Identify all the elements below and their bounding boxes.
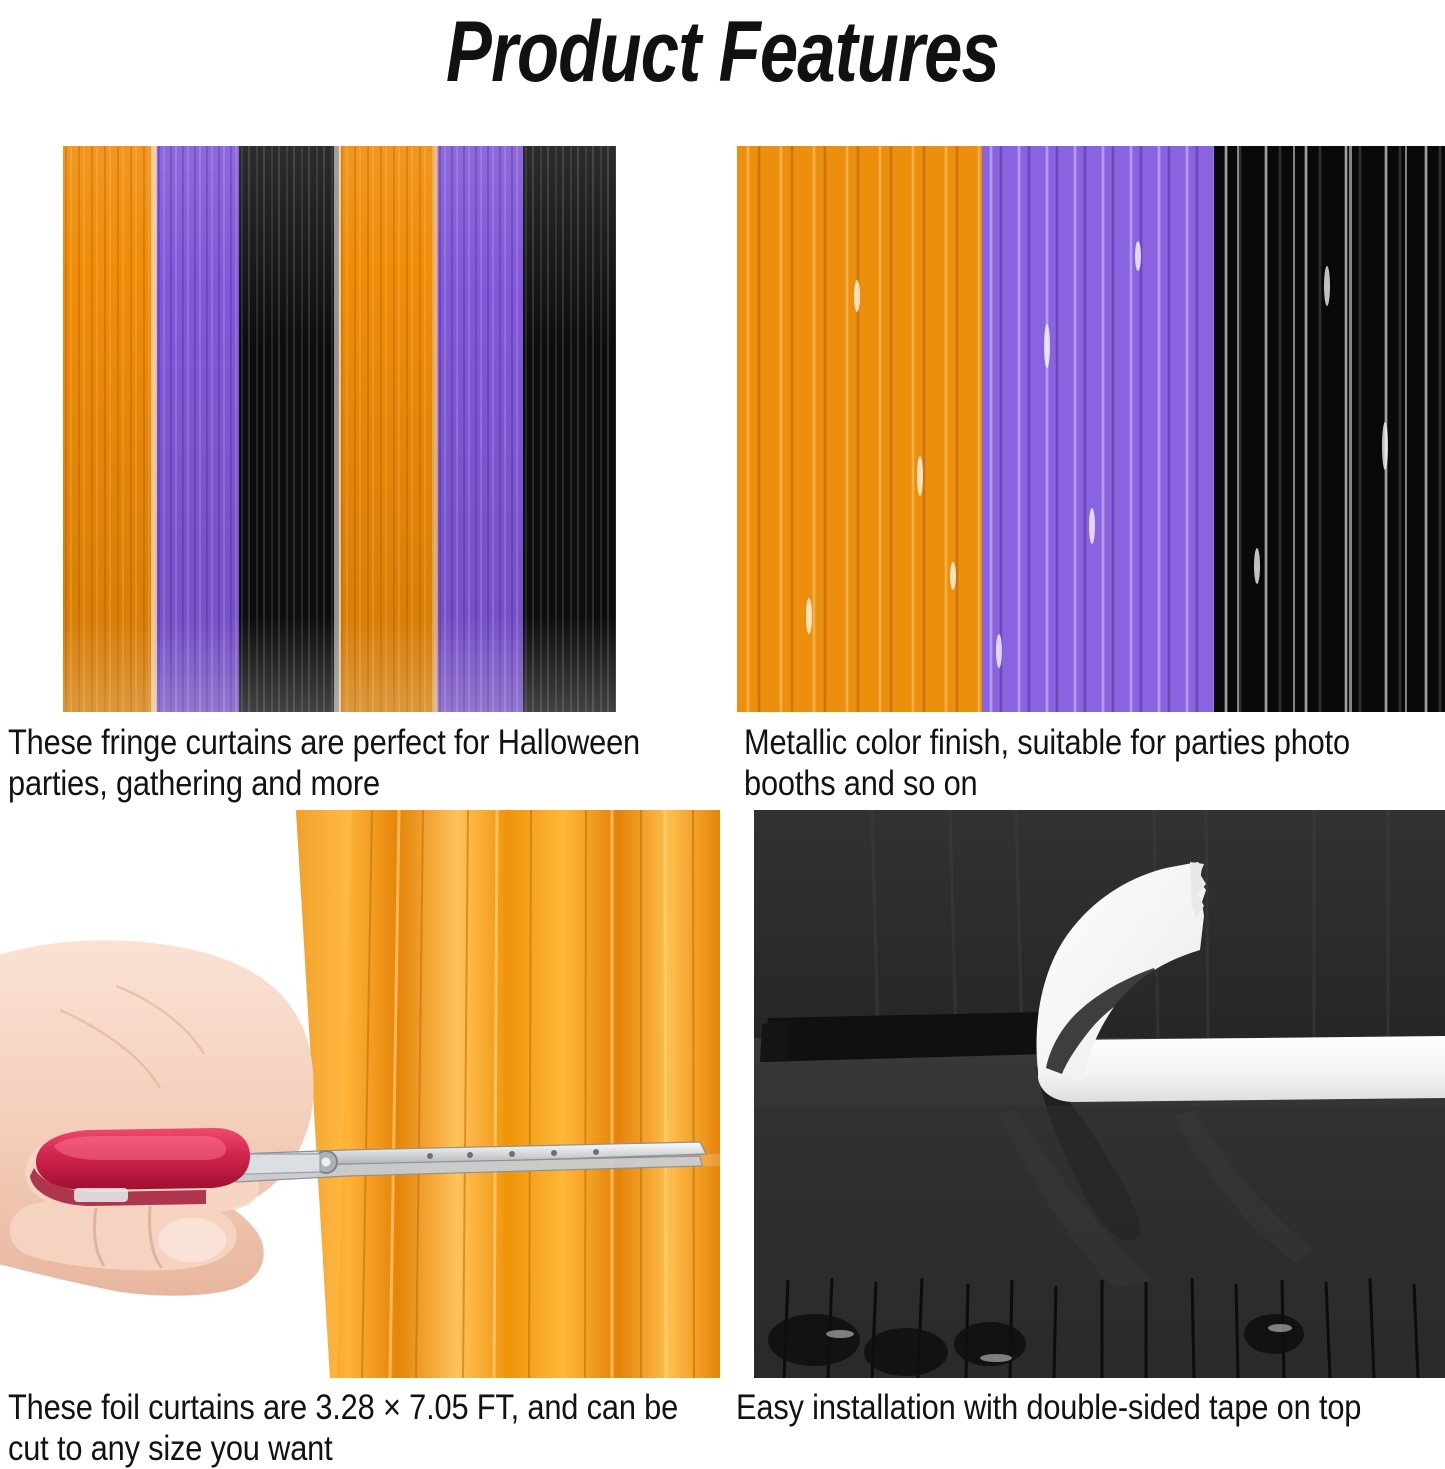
feature-caption-metallic-finish: Metallic color finish, suitable for part…	[744, 722, 1445, 804]
metallic-highlight-overlay	[737, 146, 1445, 712]
orange-foil-curtain	[296, 810, 720, 1378]
feature-caption-cuttable-size: These foil curtains are 3.28 × 7.05 FT, …	[8, 1387, 703, 1469]
tape-strip	[1038, 1036, 1445, 1102]
cutting-illustration	[0, 810, 720, 1378]
feature-image-fringe-curtain-wall	[63, 146, 616, 712]
feature-caption-halloween-parties: These fringe curtains are perfect for Ha…	[8, 722, 738, 804]
hand	[0, 940, 314, 1296]
adhesive-strip-exposed	[764, 1012, 1046, 1062]
thumbnail	[158, 1218, 226, 1262]
feature-image-double-sided-tape	[754, 810, 1445, 1378]
feature-image-metallic-closeup	[737, 146, 1445, 712]
tape-illustration	[754, 810, 1445, 1378]
fringe-tip-overlay	[63, 146, 616, 712]
feature-caption-double-sided-tape: Easy installation with double-sided tape…	[736, 1387, 1445, 1428]
feature-image-scissors-cutting	[0, 810, 720, 1378]
page-title: Product Features	[145, 4, 1301, 100]
